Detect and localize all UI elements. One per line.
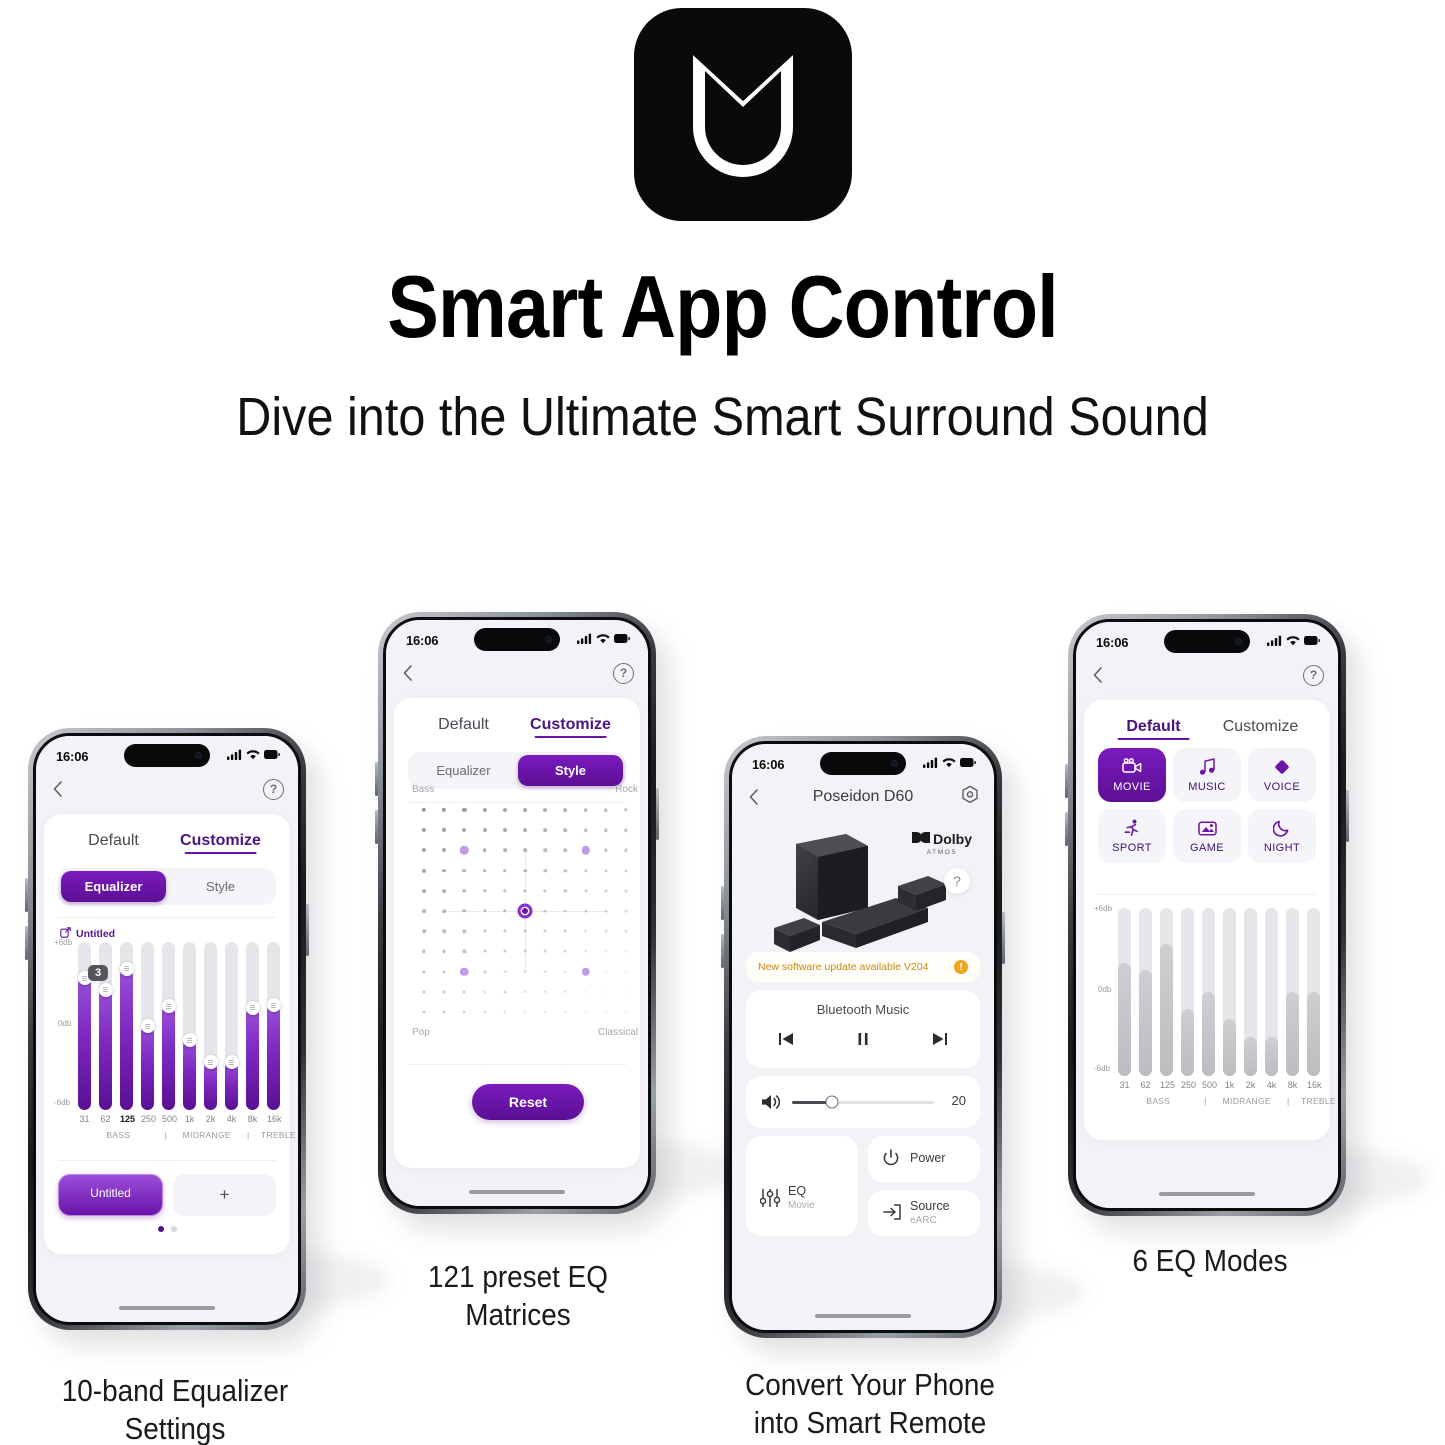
segment-style[interactable]: Style	[168, 871, 273, 902]
matrix-dot[interactable]	[564, 808, 568, 812]
eq-knob[interactable]	[162, 999, 176, 1013]
eq-track	[1181, 908, 1194, 1076]
matrix-dot[interactable]	[564, 869, 567, 872]
matrix-dot[interactable]	[604, 889, 607, 892]
tab-default[interactable]: Default	[1100, 712, 1207, 740]
matrix-dot[interactable]	[463, 930, 466, 933]
source-tile[interactable]: Source eARC	[868, 1190, 980, 1236]
power-icon	[882, 1149, 900, 1173]
matrix-dot[interactable]	[605, 970, 607, 972]
eq-group-labels: BASS | MIDRANGE | TREBLE	[1118, 1096, 1338, 1106]
matrix-dot[interactable]	[544, 950, 547, 953]
matrix-dot[interactable]	[503, 828, 507, 832]
matrix-dot[interactable]	[584, 910, 587, 913]
matrix-dot[interactable]	[543, 849, 547, 853]
battery-icon	[264, 747, 280, 765]
tab-default[interactable]: Default	[410, 710, 517, 738]
matrix-dot[interactable]	[564, 950, 567, 953]
matrix-dot[interactable]	[503, 909, 506, 912]
matrix-dot[interactable]	[483, 828, 487, 832]
matrix-dot[interactable]	[422, 808, 426, 812]
eq-track	[225, 942, 238, 1110]
cellular-signal-icon	[577, 631, 592, 649]
battery-icon	[1304, 633, 1320, 651]
eq-track	[183, 942, 196, 1110]
transport-controls	[746, 1031, 980, 1052]
matrix-dot[interactable]	[442, 848, 446, 852]
matrix-dot[interactable]	[544, 889, 547, 892]
source-tile-sub: eARC	[910, 1215, 937, 1226]
eq-mode-game[interactable]: GAME	[1173, 809, 1241, 863]
tab-default-label: Default	[88, 832, 139, 849]
matrix-dot[interactable]	[483, 848, 487, 852]
software-update-text: New software update available V204	[758, 961, 928, 973]
matrix-dot[interactable]	[625, 991, 627, 993]
power-tile[interactable]: Power	[868, 1136, 980, 1182]
eq-band-label-2k: 2k	[1244, 1080, 1257, 1090]
home-indicator	[815, 1314, 911, 1318]
eq-mode-label: MUSIC	[1188, 781, 1225, 793]
eq-mode-label: GAME	[1190, 842, 1224, 854]
eq-fill	[1223, 1019, 1236, 1076]
eq-mode-label: NIGHT	[1264, 842, 1300, 854]
matrix-dot[interactable]	[523, 828, 527, 832]
speaker-icon	[760, 1093, 782, 1116]
matrix-dot[interactable]	[625, 1011, 627, 1013]
group-treble-label: TREBLE	[1295, 1096, 1338, 1106]
matrix-dot[interactable]	[543, 869, 546, 872]
matrix-dot[interactable]	[463, 869, 467, 873]
matrix-dot[interactable]	[503, 990, 506, 993]
eq-knob[interactable]	[225, 1055, 239, 1069]
matrix-dot[interactable]	[483, 869, 487, 873]
device-title: Poseidon D60	[732, 788, 994, 806]
matrix-corner-rock: Rock	[615, 784, 638, 795]
matrix-dot[interactable]	[625, 930, 628, 933]
help-question-icon[interactable]: ?	[263, 779, 284, 800]
eq-fill	[246, 1008, 259, 1110]
wifi-icon	[942, 755, 956, 773]
eq-fill	[204, 1062, 217, 1110]
matrix-dot[interactable]	[503, 970, 506, 973]
matrix-dot[interactable]	[543, 808, 547, 812]
matrix-dot[interactable]	[483, 808, 487, 812]
matrix-dot[interactable]	[544, 991, 547, 994]
group-divider-2: |	[242, 1130, 255, 1140]
db-label-top: +6db	[1094, 904, 1112, 913]
eq-fill	[1139, 970, 1152, 1076]
eq-slider-band-4k[interactable]	[225, 942, 238, 1110]
matrix-dot[interactable]	[624, 849, 627, 852]
preset-chip-untitled[interactable]: Untitled	[58, 1174, 163, 1216]
matrix-dot[interactable]	[463, 990, 466, 993]
source-tile-title: Source	[910, 1199, 950, 1213]
group-bass-label: BASS	[1118, 1096, 1199, 1106]
volume-fill	[792, 1101, 830, 1104]
matrix-dot[interactable]	[503, 889, 506, 892]
power-tile-title: Power	[910, 1151, 945, 1165]
matrix-dot[interactable]	[503, 849, 507, 853]
eq-band-label-1k: 1k	[1223, 1080, 1236, 1090]
reset-button[interactable]: Reset	[472, 1084, 584, 1120]
eq-track: 3	[120, 942, 133, 1110]
eq-slider-band-16k[interactable]	[267, 942, 280, 1110]
matrix-dot[interactable]	[423, 1011, 426, 1014]
phone-eq-modes: 16:06	[1068, 614, 1346, 1216]
matrix-dot[interactable]	[523, 849, 527, 853]
matrix-dot[interactable]	[524, 1011, 526, 1013]
matrix-dot[interactable]	[422, 869, 426, 873]
matrix-dot[interactable]	[605, 950, 608, 953]
eq-band-labels: 31621252505001k2k4k8k16k	[1118, 1080, 1338, 1090]
matrix-dot[interactable]	[443, 950, 446, 953]
dolby-atmos-logo: Dolby ATMOS	[912, 830, 972, 856]
matrix-dot[interactable]	[483, 909, 486, 912]
matrix-dot[interactable]	[443, 990, 446, 993]
matrix-dot[interactable]	[605, 991, 607, 993]
source-input-icon	[882, 1203, 902, 1226]
eq-track	[1244, 908, 1257, 1076]
matrix-dot[interactable]	[503, 869, 507, 873]
style-card: Default Customize Equalizer Style Bass R…	[394, 698, 640, 1168]
matrix-dot[interactable]	[422, 848, 426, 852]
matrix-dot[interactable]	[503, 808, 507, 812]
matrix-dot[interactable]	[463, 889, 467, 893]
matrix-dot[interactable]	[422, 990, 425, 993]
matrix-dot[interactable]	[483, 889, 487, 893]
eq-knob[interactable]	[141, 1019, 155, 1033]
eq-band-label-8k: 8k	[246, 1114, 259, 1124]
page-dots	[44, 1226, 290, 1232]
eq-knob[interactable]	[246, 1001, 260, 1015]
matrix-dot[interactable]	[564, 970, 567, 973]
matrix-dot[interactable]	[564, 1011, 566, 1013]
tab-customize[interactable]: Customize	[1207, 712, 1314, 740]
tab-bar: Default Customize	[410, 710, 624, 738]
matrix-dot[interactable]	[483, 930, 486, 933]
eq-band-label-125: 125	[120, 1114, 133, 1124]
eq-track	[162, 942, 175, 1110]
matrix-dot-highlighted[interactable]	[581, 967, 590, 976]
caption-phone-3: Convert Your Phone into Smart Remote	[717, 1366, 1023, 1442]
matrix-dot[interactable]	[604, 869, 607, 872]
matrix-dot[interactable]	[605, 1011, 607, 1013]
eq-slider-band-2k[interactable]	[204, 942, 217, 1110]
chevron-left-icon[interactable]	[1090, 666, 1108, 684]
next-track-icon[interactable]	[930, 1031, 950, 1052]
caption-phone-2-line-2: Matrices	[365, 1296, 671, 1334]
matrix-dot[interactable]	[463, 950, 466, 953]
eq-fill	[183, 1040, 196, 1110]
eq-fill	[1160, 944, 1173, 1076]
volume-knob[interactable]	[826, 1096, 839, 1109]
matrix-dot[interactable]	[564, 991, 566, 993]
dolby-double-d-icon	[912, 830, 930, 848]
matrix-dot[interactable]	[524, 990, 527, 993]
eq-sliders-icon	[760, 1188, 780, 1213]
matrix-dot[interactable]	[523, 889, 526, 892]
matrix-dot[interactable]	[483, 1011, 486, 1014]
matrix-dot[interactable]	[462, 808, 466, 812]
matrix-dot[interactable]	[624, 869, 627, 872]
cellular-signal-icon	[923, 755, 938, 773]
matrix-dot[interactable]	[543, 828, 547, 832]
eq-slider-band-8k[interactable]	[246, 942, 259, 1110]
matrix-corner-classical: Classical	[598, 1027, 638, 1038]
eq-mode-music[interactable]: MUSIC	[1173, 748, 1241, 802]
status-time: 16:06	[752, 757, 784, 772]
matrix-dot[interactable]	[584, 930, 587, 933]
matrix-dot[interactable]	[523, 869, 527, 873]
group-divider-1: |	[159, 1130, 172, 1140]
eq-fill	[1118, 963, 1131, 1076]
matrix-dot[interactable]	[604, 930, 607, 933]
eq-fill	[120, 969, 133, 1110]
matrix-dot[interactable]	[503, 950, 506, 953]
matrix-dot[interactable]	[422, 950, 425, 953]
matrix-dot[interactable]	[483, 970, 486, 973]
media-panel: Bluetooth Music	[746, 990, 980, 1068]
matrix-dot[interactable]	[625, 889, 628, 892]
eq-band-label-31: 31	[1118, 1080, 1131, 1090]
eq-track	[246, 942, 259, 1110]
eq-fill	[1244, 1037, 1257, 1076]
db-label-bottom: -6db	[1094, 1064, 1110, 1073]
matrix-dot[interactable]	[523, 930, 526, 933]
matrix-dot[interactable]	[523, 808, 527, 812]
eq-knob[interactable]	[267, 998, 281, 1012]
matrix-dot[interactable]	[564, 828, 568, 832]
matrix-dot[interactable]	[584, 828, 588, 832]
eq-band-label-1k: 1k	[183, 1114, 196, 1124]
eq-fill	[267, 1005, 280, 1110]
pause-icon[interactable]	[855, 1031, 871, 1052]
matrix-dot[interactable]	[524, 970, 527, 973]
eq-track	[1139, 908, 1152, 1076]
matrix-dot[interactable]	[624, 829, 627, 832]
tab-default[interactable]: Default	[60, 826, 167, 854]
eq-slider-band-125[interactable]: 3	[120, 942, 133, 1110]
eq-knob[interactable]	[183, 1033, 197, 1047]
battery-icon	[960, 755, 976, 773]
matrix-selected-dot[interactable]	[518, 904, 533, 919]
eq-fill	[1265, 1037, 1278, 1076]
eq-fill	[1202, 992, 1215, 1076]
group-treble-label: TREBLE	[255, 1130, 298, 1140]
matrix-dot[interactable]	[604, 808, 608, 812]
matrix-dot[interactable]	[463, 909, 466, 912]
eq-track	[1223, 908, 1236, 1076]
nav-bar: ?	[1076, 656, 1338, 694]
dynamic-island	[1164, 630, 1250, 653]
floating-help-button[interactable]: ?	[944, 868, 970, 894]
eq-track	[1307, 908, 1320, 1076]
matrix-dot[interactable]	[442, 909, 446, 913]
eq-mode-movie[interactable]: MOVIE	[1098, 748, 1166, 802]
eq-knob[interactable]	[99, 983, 113, 997]
matrix-dot[interactable]	[625, 950, 627, 952]
matrix-dot[interactable]	[422, 889, 426, 893]
caption-phone-3-line-2: into Smart Remote	[717, 1404, 1023, 1442]
eq-fill	[225, 1062, 238, 1110]
eq-slider-group[interactable]: 3	[78, 942, 298, 1110]
tab-customize[interactable]: Customize	[167, 826, 274, 854]
equalizer-chart-readonly: +6db 0db -6db 31621252505001k2k4k8k16k B…	[1084, 908, 1330, 1108]
segment-equalizer[interactable]: Equalizer	[411, 755, 516, 786]
matrix-dot-highlighted[interactable]	[460, 846, 469, 855]
caption-phone-1-line-1: 10-band Equalizer	[18, 1372, 333, 1410]
style-matrix-grid[interactable]: Bass Rock Pop Classical	[412, 788, 638, 1034]
eq-mode-night[interactable]: NIGHT	[1248, 809, 1316, 863]
matrix-dot[interactable]	[584, 808, 588, 812]
cellular-signal-icon	[1267, 633, 1282, 651]
matrix-dot[interactable]	[443, 1011, 446, 1014]
eq-track	[1160, 908, 1173, 1076]
eq-fill	[162, 1006, 175, 1110]
matrix-dot[interactable]	[544, 930, 547, 933]
db-label-bottom: -6db	[54, 1098, 70, 1107]
db-label-mid: 0db	[1098, 985, 1111, 994]
eq-mode-voice[interactable]: VOICE	[1248, 748, 1316, 802]
eq-band-label-2k: 2k	[204, 1114, 217, 1124]
matrix-dot[interactable]	[442, 889, 446, 893]
matrix-dot[interactable]	[564, 909, 567, 912]
eq-slider-band-2k	[1244, 908, 1257, 1076]
eq-knob[interactable]	[204, 1055, 218, 1069]
preset-name-row[interactable]: Untitled	[60, 927, 290, 941]
segmented-control: Equalizer Style	[58, 868, 276, 905]
diamond-voice-icon	[1273, 758, 1291, 776]
promo-stage: Smart App Control Dive into the Ultimate…	[0, 0, 1445, 1445]
cellular-signal-icon	[227, 747, 242, 765]
matrix-dot[interactable]	[422, 970, 425, 973]
matrix-dot[interactable]	[584, 1011, 586, 1013]
matrix-dot[interactable]	[463, 1011, 466, 1014]
warning-icon: !	[954, 960, 968, 974]
eq-band-label-4k: 4k	[1265, 1080, 1278, 1090]
preset-name-label: Untitled	[76, 928, 115, 940]
help-question-icon[interactable]: ?	[613, 663, 634, 684]
moon-icon	[1273, 819, 1291, 837]
status-time: 16:06	[56, 749, 88, 764]
chevron-left-icon[interactable]	[400, 664, 418, 682]
wifi-icon	[1286, 633, 1300, 651]
matrix-dot[interactable]	[564, 889, 567, 892]
home-indicator	[469, 1190, 565, 1194]
matrix-dot[interactable]	[584, 950, 587, 953]
matrix-dot[interactable]	[443, 970, 446, 973]
eq-track	[1202, 908, 1215, 1076]
eq-band-labels: 31621252505001k2k4k8k16k	[78, 1114, 298, 1124]
eq-track	[1265, 908, 1278, 1076]
eq-track	[267, 942, 280, 1110]
eq-slider-band-250[interactable]	[141, 942, 154, 1110]
segment-style[interactable]: Style	[518, 755, 623, 786]
matrix-dot[interactable]	[483, 950, 486, 953]
matrix-dot[interactable]	[422, 909, 426, 913]
running-person-icon	[1123, 819, 1141, 837]
eq-band-label-16k: 16k	[1307, 1080, 1320, 1090]
matrix-dot[interactable]	[544, 909, 547, 912]
matrix-dot[interactable]	[544, 1011, 546, 1013]
matrix-dot[interactable]	[584, 889, 587, 892]
home-indicator	[1159, 1192, 1255, 1196]
eq-mode-label: MOVIE	[1113, 781, 1150, 793]
matrix-dot[interactable]	[544, 970, 547, 973]
tab-customize[interactable]: Customize	[517, 710, 624, 738]
equalizer-card: Default Customize Equalizer Style	[44, 814, 290, 1254]
matrix-dot[interactable]	[584, 991, 586, 993]
matrix-dot-highlighted[interactable]	[460, 967, 469, 976]
matrix-dot[interactable]	[442, 869, 446, 873]
eq-slider-band-62	[1139, 908, 1152, 1076]
help-question-icon[interactable]: ?	[1303, 665, 1324, 686]
matrix-dot[interactable]	[442, 828, 446, 832]
eq-band-label-8k: 8k	[1286, 1080, 1299, 1090]
matrix-dot[interactable]	[564, 849, 567, 852]
matrix-dot[interactable]	[504, 1011, 507, 1014]
matrix-dot[interactable]	[524, 950, 527, 953]
group-divider-1: |	[1199, 1096, 1212, 1106]
matrix-dot[interactable]	[604, 910, 607, 913]
matrix-dot[interactable]	[462, 828, 466, 832]
eq-band-label-250: 250	[141, 1114, 154, 1124]
segment-equalizer[interactable]: Equalizer	[61, 871, 166, 902]
matrix-dot[interactable]	[564, 930, 567, 933]
eq-slider-band-1k[interactable]	[183, 942, 196, 1110]
preset-chip-add[interactable]: +	[173, 1174, 276, 1216]
chevron-left-icon[interactable]	[50, 780, 68, 798]
floating-help-label: ?	[953, 873, 961, 889]
software-update-banner[interactable]: New software update available V204 !	[746, 952, 980, 982]
matrix-dot[interactable]	[503, 930, 506, 933]
caption-phone-1-line-2: Settings	[18, 1410, 333, 1445]
matrix-dot[interactable]	[604, 828, 607, 831]
group-midrange-label: MIDRANGE	[172, 1130, 241, 1140]
eq-band-label-4k: 4k	[225, 1114, 238, 1124]
matrix-dot[interactable]	[442, 929, 445, 932]
tab-bar: Default Customize	[1100, 712, 1314, 740]
eq-mode-sport[interactable]: SPORT	[1098, 809, 1166, 863]
matrix-dot[interactable]	[422, 929, 426, 933]
matrix-dot[interactable]	[625, 970, 627, 972]
preset-chip-row: Untitled +	[58, 1174, 276, 1216]
eq-value-tooltip: 3	[88, 965, 108, 981]
matrix-dot[interactable]	[625, 910, 628, 913]
eq-fill	[1307, 992, 1320, 1076]
caption-phone-4-line-1: 6 EQ Modes	[1075, 1242, 1345, 1280]
matrix-dot[interactable]	[624, 808, 627, 811]
matrix-dot[interactable]	[584, 869, 587, 872]
eq-mode-label: VOICE	[1264, 781, 1300, 793]
page-dot-2[interactable]	[171, 1226, 177, 1232]
caption-phone-2-line-1: 121 preset EQ	[365, 1258, 671, 1296]
eq-slider-band-250	[1181, 908, 1194, 1076]
eq-knob[interactable]	[120, 962, 134, 976]
matrix-dot-highlighted[interactable]	[581, 846, 590, 855]
previous-track-icon[interactable]	[776, 1031, 796, 1052]
matrix-dot[interactable]	[422, 828, 426, 832]
eq-tile[interactable]: EQ Movie	[746, 1136, 858, 1236]
eq-band-label-500: 500	[162, 1114, 175, 1124]
media-source-title: Bluetooth Music	[746, 990, 980, 1017]
page-dot-1[interactable]	[158, 1226, 164, 1232]
matrix-dot[interactable]	[604, 849, 607, 852]
matrix-dot[interactable]	[442, 808, 446, 812]
page-title: Smart App Control	[87, 262, 1359, 352]
matrix-dot[interactable]	[483, 990, 486, 993]
eq-slider-band-500[interactable]	[162, 942, 175, 1110]
